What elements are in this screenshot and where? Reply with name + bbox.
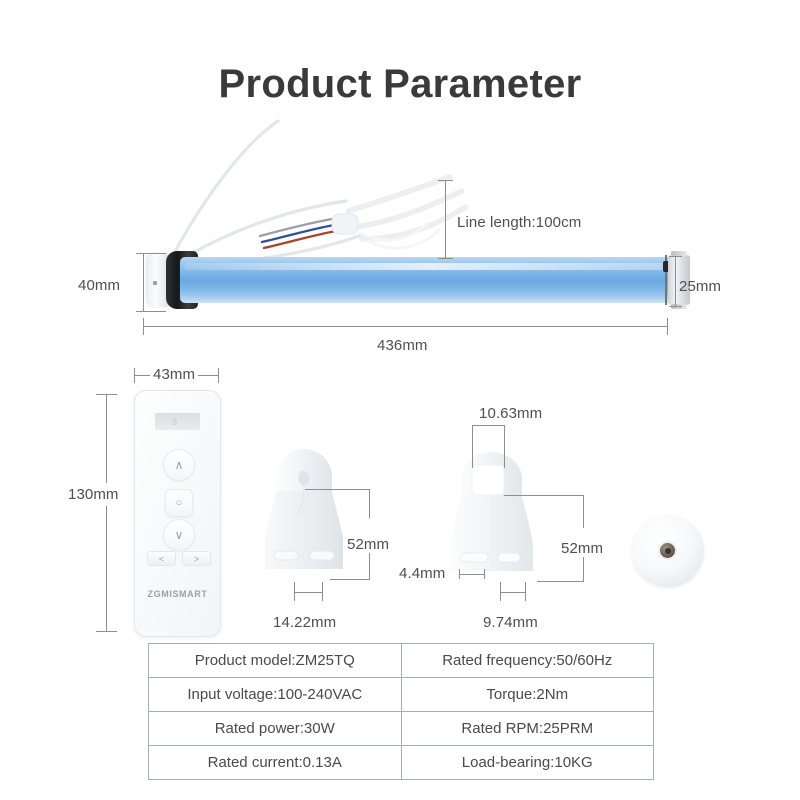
dim-label-52mm-round: 52mm: [344, 536, 392, 553]
remote-stop-button[interactable]: ○: [165, 489, 193, 517]
dim-label-9-74mm: 9.74mm: [483, 614, 538, 631]
dim-label-43mm: 43mm: [150, 366, 198, 383]
dim-tick-52mm-a-bottom: [330, 579, 370, 580]
circle-stop-icon: ○: [176, 497, 183, 509]
dim-line-40mm: [143, 253, 144, 311]
dim-label-52mm-square: 52mm: [558, 540, 606, 557]
dim-label-25mm: 25mm: [679, 278, 721, 295]
dim-label-130mm: 130mm: [66, 483, 121, 506]
dim-tick-cable-bottom: [438, 258, 453, 259]
remote-down-button[interactable]: ∨: [163, 519, 195, 551]
dim-label-40mm: 40mm: [78, 277, 120, 294]
motor-collar-notch: [153, 281, 157, 285]
dim-label-4-4mm: 4.4mm: [399, 565, 445, 582]
dim-tick-40mm-top: [136, 253, 166, 254]
table-row: Rated current:0.13A Load-bearing:10KG: [149, 746, 654, 780]
spec-cell: Rated current:0.13A: [149, 746, 402, 780]
dim-tick-cable-top: [438, 180, 453, 181]
dim-line-4-4mm: [459, 574, 485, 575]
dim-tick-43mm-right: [218, 368, 219, 383]
dim-tick-130mm-bottom: [96, 631, 117, 632]
specification-table: Product model:ZM25TQ Rated frequency:50/…: [148, 643, 654, 780]
remote-brand-logo: ZGMISMART: [135, 589, 220, 599]
remote-up-button[interactable]: ∧: [163, 449, 195, 481]
dim-label-line-length: Line length:100cm: [457, 214, 581, 231]
motor-tube-highlight: [184, 263, 673, 270]
remote-channel-prev-button[interactable]: <: [147, 551, 176, 566]
dim-label-10-63mm: 10.63mm: [479, 405, 542, 422]
dim-line-10-63-left: [472, 425, 473, 468]
leader-line-square-bracket: [504, 495, 584, 496]
spec-cell: Input voltage:100-240VAC: [149, 678, 402, 712]
round-bracket-illustration: [262, 443, 354, 598]
dim-tick-25mm-top: [669, 256, 682, 257]
product-parameter-page: Product Parameter: [0, 0, 800, 800]
dim-line-52mm-b-top: [583, 495, 584, 528]
dim-line-25mm: [675, 256, 676, 306]
dim-line-14-22mm: [294, 592, 323, 593]
dim-tick-130mm-top: [96, 394, 117, 395]
crown-wheel-pin-hole: [665, 548, 671, 554]
dim-line-cable-length: [445, 180, 446, 258]
table-row: Input voltage:100-240VAC Torque:2Nm: [149, 678, 654, 712]
spec-cell: Torque:2Nm: [401, 678, 654, 712]
dim-tick-14-22mm-right: [322, 582, 323, 601]
remote-display-value: 9: [172, 418, 180, 426]
dim-line-52mm-a-bottom: [369, 552, 370, 580]
dim-tick-436mm-right: [667, 318, 668, 335]
dim-tick-43mm-left: [134, 368, 135, 383]
spec-cell: Load-bearing:10KG: [401, 746, 654, 780]
dim-tick-9-74mm-left: [500, 582, 501, 601]
dim-tick-10-63-top: [472, 425, 505, 426]
remote-control[interactable]: 9 ∧ ○ ∨ < > ZGMISMART: [134, 390, 221, 637]
dim-label-436mm: 436mm: [377, 337, 428, 354]
spec-cell: Rated power:30W: [149, 712, 402, 746]
crown-wheel-adapter: [632, 515, 704, 587]
remote-channel-next-button[interactable]: >: [182, 551, 211, 566]
dim-tick-40mm-bottom: [136, 311, 166, 312]
leader-line-round-bracket: [305, 489, 370, 490]
dim-tick-52mm-b-bottom: [537, 581, 584, 582]
dim-tick-14-22mm-left: [294, 582, 295, 601]
chevron-up-icon: ∧: [175, 458, 184, 472]
dim-label-14-22mm: 14.22mm: [273, 614, 336, 631]
page-title: Product Parameter: [0, 62, 800, 107]
dim-tick-4-4mm-right: [484, 569, 485, 579]
spec-cell: Product model:ZM25TQ: [149, 644, 402, 678]
spec-cell: Rated frequency:50/60Hz: [401, 644, 654, 678]
arrow-left-icon: <: [159, 554, 164, 564]
dim-tick-9-74mm-right: [525, 582, 526, 601]
dim-line-52mm-b-bottom: [583, 556, 584, 582]
dim-line-10-63-right: [504, 425, 505, 468]
table-row: Product model:ZM25TQ Rated frequency:50/…: [149, 644, 654, 678]
tubular-motor-illustration: [120, 175, 690, 340]
dim-line-52mm-a-top: [369, 489, 370, 518]
arrow-right-icon: >: [194, 554, 199, 564]
dim-tick-4-4mm-left: [459, 569, 460, 579]
spec-cell: Rated RPM:25PRM: [401, 712, 654, 746]
chevron-down-icon: ∨: [175, 528, 184, 542]
table-row: Rated power:30W Rated RPM:25PRM: [149, 712, 654, 746]
dim-line-130mm: [106, 394, 107, 631]
dim-line-436mm: [143, 326, 668, 327]
dim-tick-436mm-left: [143, 318, 144, 335]
dim-tick-25mm-bottom: [669, 306, 682, 307]
dim-line-9-74mm: [500, 592, 526, 593]
